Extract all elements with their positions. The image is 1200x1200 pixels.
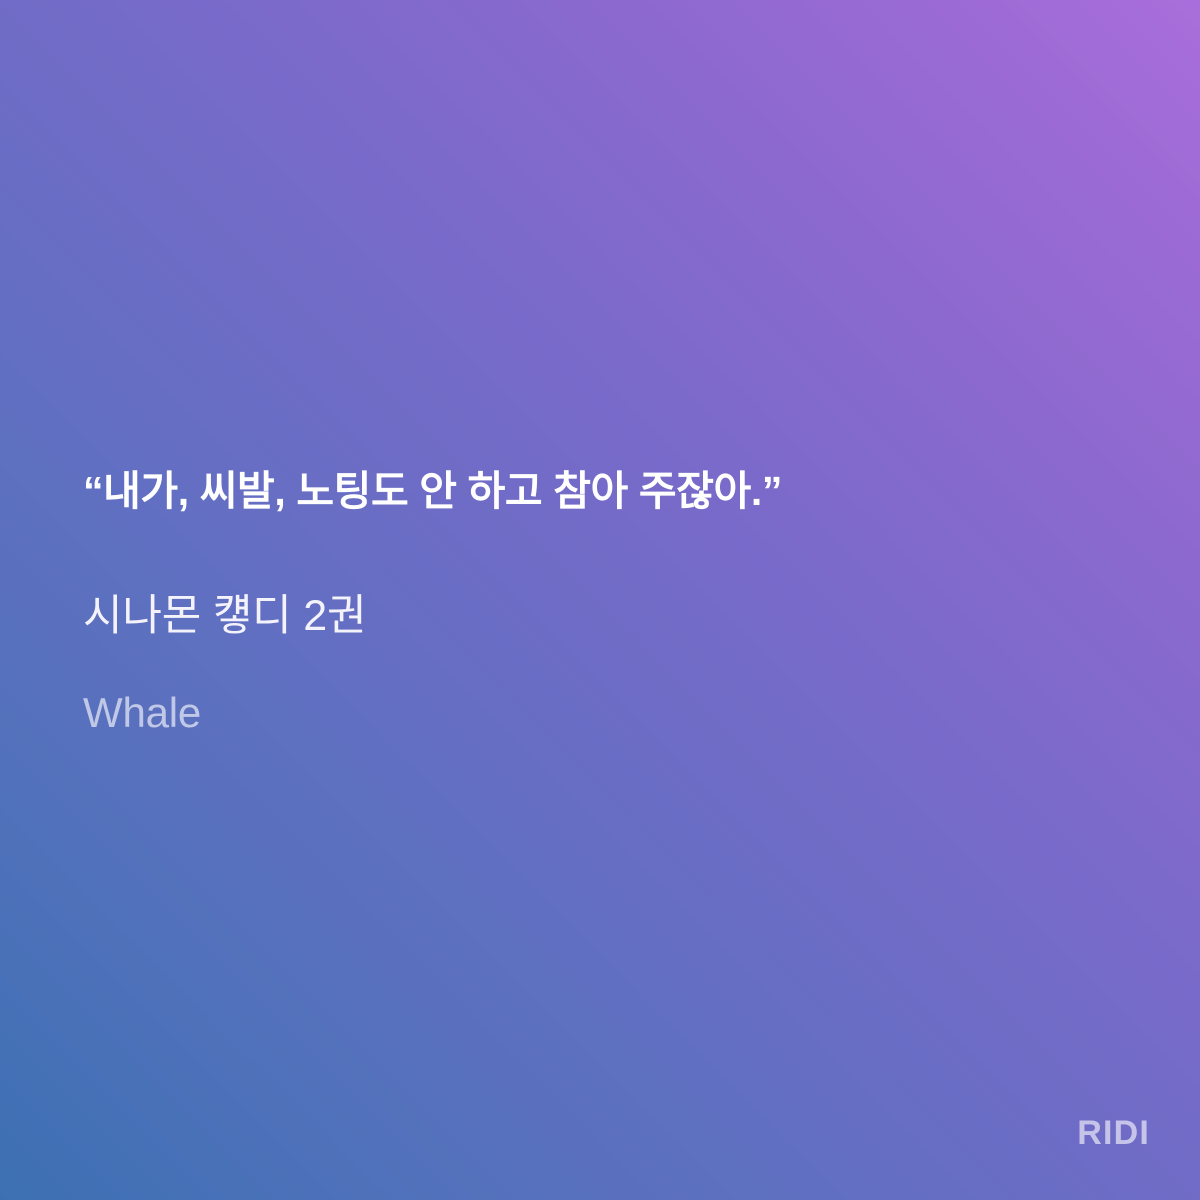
ridi-logo: RIDI	[1077, 1116, 1150, 1150]
book-title: 시나몬 컣디 2권	[83, 517, 1083, 644]
quote-text-block: “내가, 씨발, 노팅도 안 하고 참아 주잖아.” 시나몬 컣디 2권 Wha…	[83, 466, 1083, 740]
quote-card: “내가, 씨발, 노팅도 안 하고 참아 주잖아.” 시나몬 컣디 2권 Wha…	[0, 0, 1200, 1200]
book-author: Whale	[83, 644, 1083, 740]
book-quote: “내가, 씨발, 노팅도 안 하고 참아 주잖아.”	[83, 466, 1083, 517]
